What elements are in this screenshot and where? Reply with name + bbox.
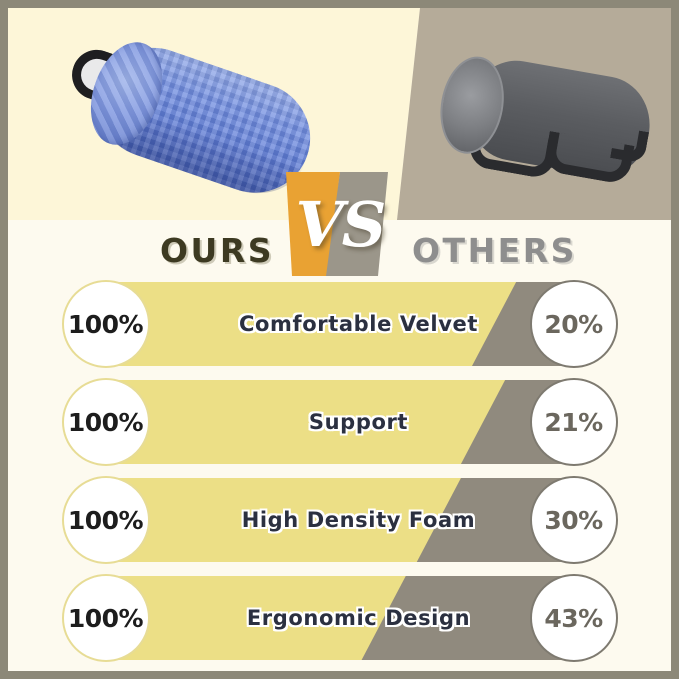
ours-score-badge: 100% <box>62 574 150 662</box>
ours-score-badge: 100% <box>62 280 150 368</box>
others-score-badge: 20% <box>530 280 618 368</box>
vs-badge: VS <box>280 172 400 276</box>
others-score-badge: 43% <box>530 574 618 662</box>
vs-label: VS <box>280 172 400 276</box>
comparison-infographic: OURS VS OTHERS Comfortable Velvet 100% 2… <box>0 0 679 679</box>
comparison-rows: Comfortable Velvet 100% 20% Support 100%… <box>8 282 671 671</box>
ours-heading: OURS <box>160 234 274 268</box>
infographic-page: OURS VS OTHERS Comfortable Velvet 100% 2… <box>8 8 671 671</box>
headings-bar: OURS VS OTHERS <box>8 220 671 282</box>
others-heading: OTHERS <box>412 234 577 268</box>
table-row: Ergonomic Design 100% 43% <box>64 576 616 660</box>
others-score-badge: 30% <box>530 476 618 564</box>
others-score-badge: 21% <box>530 378 618 466</box>
ours-score-badge: 100% <box>62 378 150 466</box>
ours-score-badge: 100% <box>62 476 150 564</box>
table-row: Support 100% 21% <box>64 380 616 464</box>
table-row: Comfortable Velvet 100% 20% <box>64 282 616 366</box>
table-row: High Density Foam 100% 30% <box>64 478 616 562</box>
others-product-strap-tail-icon <box>610 126 649 163</box>
